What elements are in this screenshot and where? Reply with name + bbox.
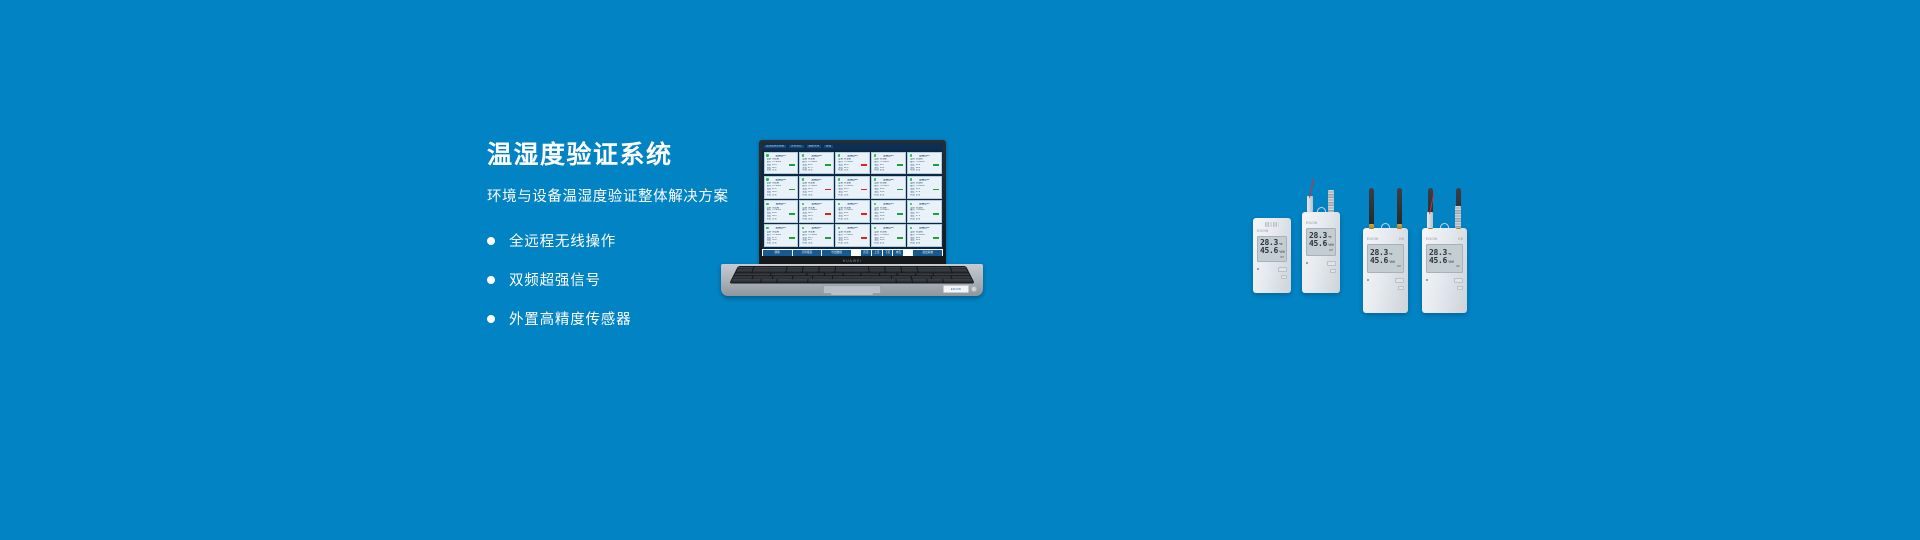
card-value: 正常 (844, 194, 867, 197)
keyboard-key[interactable] (950, 267, 967, 269)
keyboard-key[interactable] (819, 270, 835, 272)
monitoring-card[interactable]: 监测点17设备恒温箱编号TH-0001温度26.3湿度49.7状态正常 (799, 224, 833, 247)
hanger-loop-icon (1317, 207, 1326, 212)
keyboard-key[interactable] (932, 276, 952, 279)
device-led-icon (1306, 262, 1308, 264)
monitoring-card[interactable]: 监测点08设备恒温箱编号TH-0001温度30.6湿度53.7状态正常 (835, 176, 869, 199)
lcd-humidity-line: 45.6%RH (1260, 247, 1284, 255)
device-brand-row: ENOWH8 (1422, 237, 1467, 241)
keyboard-key[interactable] (771, 273, 789, 276)
device-wall-mount-logger[interactable]: ENOW28.3℃45.6%RHRH (1253, 218, 1291, 293)
keyboard-key[interactable] (934, 267, 951, 269)
lcd-sub-label: RH (1260, 256, 1284, 259)
monitoring-card[interactable]: 监测点14设备恒温箱编号TH-0001温度26.4湿度48.8状态正常 (871, 200, 905, 223)
status-indicator-icon (766, 154, 769, 157)
app-menu-item-2[interactable]: 实时监控 (789, 145, 803, 149)
device-button-primary[interactable] (1395, 278, 1404, 283)
laptop-badge-sticker: ENOW (943, 285, 969, 293)
card-key: 状态 (874, 169, 879, 172)
lcd-humidity-value: 45.6 (1370, 257, 1388, 265)
antenna-right-icon (1397, 188, 1402, 228)
device-led-icon (1426, 279, 1428, 281)
card-key: 状态 (874, 242, 879, 245)
device-brand-row: ENOW (1253, 229, 1291, 233)
monitoring-card[interactable]: 监测点07设备恒温箱编号TH-0001温度31.4湿度55.1状态正常 (799, 176, 833, 199)
keyboard-key[interactable] (836, 270, 852, 272)
monitoring-card[interactable]: 监测点09设备恒温箱编号TH-0001温度26.8湿度45.0状态正常 (871, 176, 905, 199)
monitoring-card[interactable]: 监测点02设备恒温箱编号TH-0001温度26.1湿度47.5状态正常 (799, 152, 833, 175)
lcd-humidity-value: 45.6 (1309, 240, 1327, 248)
monitoring-card-grid: 监测点01设备恒温箱编号TH-0001温度25.3湿度48.1状态正常监测点02… (762, 150, 943, 249)
card-title: 监测点18 (838, 227, 866, 230)
card-value: 正常 (808, 194, 831, 197)
device-lcd-display: 28.3℃45.6%RHRH (1306, 228, 1336, 256)
monitoring-card[interactable]: 监测点18设备恒温箱编号TH-0001温度31.1湿度55.8状态正常 (835, 224, 869, 247)
card-row-status: 状态正常 (802, 218, 830, 221)
lcd-humidity-line: 45.6%RH (1309, 240, 1333, 248)
card-key: 状态 (874, 218, 879, 221)
laptop-trackpad[interactable] (823, 285, 881, 294)
device-brand: ENOW (1426, 237, 1438, 241)
device-external-probe-logger[interactable]: ENOW28.3℃45.6%RHRH (1302, 212, 1340, 293)
card-key: 状态 (838, 218, 843, 221)
device-brand-row: ENOW (1302, 221, 1340, 225)
card-title: 监测点20 (910, 227, 938, 230)
card-key: 状态 (802, 169, 807, 172)
hanger-loop-icon (1440, 223, 1449, 228)
lcd-humidity-unit: %RH (1328, 244, 1334, 247)
card-value: 正常 (916, 218, 939, 221)
keyboard-key[interactable] (852, 276, 871, 279)
probe-sensor-head-icon (1328, 190, 1334, 212)
keyboard-key[interactable] (807, 273, 825, 276)
device-button-row (1363, 278, 1408, 283)
keyboard-key[interactable] (879, 273, 897, 276)
lcd-temperature-unit: ℃ (1279, 243, 1283, 246)
card-value: 正常 (916, 194, 939, 197)
card-title: 监测点04 (874, 155, 902, 158)
keyboard-key[interactable] (852, 267, 868, 269)
keyboard-key[interactable] (736, 270, 753, 272)
feature-label: 外置高精度传感器 (509, 308, 631, 329)
app-menubar[interactable]: 温湿度验证系统实时监控数据查询报警 (762, 143, 943, 150)
keyboard-key[interactable] (789, 273, 807, 276)
card-key: 状态 (838, 169, 843, 172)
card-key: 状态 (802, 218, 807, 221)
feature-label: 双频超强信号 (509, 269, 601, 290)
keyboard-key[interactable] (892, 276, 912, 279)
keyboard-key[interactable] (927, 280, 943, 283)
keyboard-key[interactable] (832, 276, 851, 279)
card-row-status: 状态正常 (874, 218, 902, 221)
device-model: H8 (1399, 237, 1404, 241)
keyboard-row (731, 280, 973, 283)
monitoring-card[interactable]: 监测点10设备恒温箱编号TH-0001温度25.1湿度47.9状态正常 (907, 176, 941, 199)
status-indicator-icon (766, 178, 769, 181)
device-led-icon (1367, 279, 1369, 281)
card-title: 监测点13 (838, 203, 866, 206)
keyboard-key[interactable] (918, 270, 935, 272)
lcd-temperature-unit: ℃ (1448, 253, 1452, 256)
device-dual-antenna-logger-a[interactable]: ENOWH828.3℃45.6%RHRH (1363, 228, 1408, 313)
card-key: 状态 (910, 194, 915, 197)
card-title: 监测点05 (910, 155, 938, 158)
card-title: 监测点10 (910, 179, 938, 182)
monitoring-card[interactable]: 监测点04设备恒温箱编号TH-0001温度24.7湿度46.2状态正常 (871, 152, 905, 175)
antenna-left-icon (1369, 188, 1374, 228)
app-menu-item-3[interactable]: 数据查询 (807, 145, 821, 149)
keyboard-key[interactable] (897, 280, 912, 283)
device-lcd-display: 28.3℃45.6%RHRH (1426, 244, 1463, 273)
card-row-status: 状态正常 (838, 194, 866, 197)
card-value: 正常 (844, 218, 867, 221)
keyboard-row (734, 273, 970, 276)
card-row-status: 状态正常 (767, 169, 795, 172)
keyboard-key[interactable] (825, 273, 842, 276)
keyboard-key[interactable] (885, 270, 901, 272)
probe-connector-icon (1307, 196, 1313, 212)
device-button-secondary[interactable] (1398, 286, 1404, 290)
monitoring-card[interactable]: 监测点13设备恒温箱编号TH-0001温度30.2湿度54.3状态正常 (835, 200, 869, 223)
card-value: 正常 (808, 218, 831, 221)
keyboard-key[interactable] (752, 270, 769, 272)
card-title: 监测点01 (767, 155, 795, 158)
monitoring-card[interactable]: 监测点01设备恒温箱编号TH-0001温度25.3湿度48.1状态正常 (764, 152, 798, 175)
lcd-humidity-line: 45.6%RH (1370, 257, 1401, 265)
card-value: 正常 (880, 169, 903, 172)
app-menu-item-4[interactable]: 报警 (824, 145, 833, 149)
card-title: 监测点06 (767, 179, 795, 182)
card-row-status: 状态正常 (874, 169, 902, 172)
keyboard-key[interactable] (915, 273, 933, 276)
card-value: 正常 (808, 169, 831, 172)
keyboard-key[interactable] (935, 270, 952, 272)
keyboard-key[interactable] (872, 276, 891, 279)
device-button-secondary[interactable] (1330, 269, 1336, 273)
device-button-row-secondary (1253, 275, 1291, 279)
card-value: 正常 (772, 169, 795, 172)
status-indicator-icon (910, 178, 913, 181)
keyboard-key[interactable] (731, 280, 761, 283)
monitoring-card[interactable]: 监测点12设备恒温箱编号TH-0001温度32.0湿度56.4状态正常 (799, 200, 833, 223)
laptop-keyboard[interactable] (729, 266, 975, 283)
keyboard-key[interactable] (802, 270, 818, 272)
keyboard-key[interactable] (770, 267, 786, 269)
device-button-row (1302, 261, 1340, 266)
card-title: 监测点19 (874, 227, 902, 230)
card-value: 正常 (916, 169, 939, 172)
card-title: 监测点11 (767, 203, 795, 206)
monitoring-card[interactable]: 监测点05设备恒温箱编号TH-0001温度25.9湿度49.3状态正常 (907, 152, 941, 175)
keyboard-key[interactable] (754, 267, 771, 269)
card-title: 监测点15 (910, 203, 938, 206)
card-title: 监测点16 (767, 227, 795, 230)
device-button-row (1422, 278, 1467, 283)
card-key: 状态 (767, 218, 772, 221)
device-button-row-secondary (1422, 286, 1467, 290)
device-led-icon (1257, 268, 1259, 270)
keyboard-key[interactable] (943, 280, 973, 283)
card-value: 正常 (772, 242, 795, 245)
card-value: 正常 (880, 194, 903, 197)
fingerprint-sensor-icon[interactable] (971, 286, 977, 292)
device-button-secondary[interactable] (1281, 275, 1287, 279)
keyboard-key[interactable] (951, 276, 971, 279)
lcd-humidity-unit: %RH (1279, 251, 1285, 254)
status-indicator-icon (910, 154, 913, 157)
card-key: 状态 (838, 194, 843, 197)
product-banner: 温湿度验证系统 环境与设备温湿度验证整体解决方案 全远程无线操作双频超强信号外置… (0, 0, 1920, 540)
bullet-dot-icon (487, 276, 495, 284)
feature-item-3: 外置高精度传感器 (487, 308, 907, 329)
device-button-primary[interactable] (1278, 267, 1287, 272)
card-title: 监测点14 (874, 203, 902, 206)
device-button-row-secondary (1363, 286, 1408, 290)
card-title: 监测点02 (802, 155, 830, 158)
card-title: 监测点12 (802, 203, 830, 206)
antenna-left-base-icon (1369, 224, 1374, 229)
status-indicator-icon (766, 203, 769, 206)
bullet-dot-icon (487, 237, 495, 245)
card-key: 状态 (910, 218, 915, 221)
app-toolbar[interactable]: 刷新打印报表导出数据首页上页下页末页退出系统 (762, 249, 943, 256)
card-row-status: 状态正常 (767, 194, 795, 197)
keyboard-key[interactable] (772, 276, 792, 279)
keyboard-key[interactable] (803, 267, 819, 269)
card-key: 状态 (802, 242, 807, 245)
keyboard-key[interactable] (843, 273, 860, 276)
keyboard-key[interactable] (836, 267, 852, 269)
lcd-humidity-line: 45.6%RH (1429, 257, 1460, 265)
card-row-status: 状态正常 (910, 242, 938, 245)
keyboard-row (736, 270, 968, 272)
card-row-status: 状态正常 (910, 169, 938, 172)
card-row-status: 状态正常 (838, 218, 866, 221)
lcd-humidity-value: 45.6 (1429, 257, 1447, 265)
laptop-lid: 温湿度验证系统实时监控数据查询报警 监测点01设备恒温箱编号TH-0001温度2… (759, 140, 946, 265)
card-row-status: 状态正常 (802, 169, 830, 172)
keyboard-key[interactable] (861, 273, 878, 276)
card-row-status: 状态正常 (802, 242, 830, 245)
monitoring-card[interactable]: 监测点16设备恒温箱编号TH-0001温度27.0湿度45.9状态正常 (764, 224, 798, 247)
card-key: 状态 (910, 169, 915, 172)
keyboard-key[interactable] (734, 273, 752, 276)
card-title: 监测点07 (802, 179, 830, 182)
keyboard-key[interactable] (761, 280, 777, 283)
device-lcd-display: 28.3℃45.6%RHRH (1367, 244, 1404, 273)
keyboard-key[interactable] (732, 276, 752, 279)
device-brand: ENOW (1306, 221, 1318, 225)
card-title: 监测点03 (838, 155, 866, 158)
card-row-status: 状态正常 (874, 194, 902, 197)
card-value: 正常 (880, 218, 903, 221)
antenna-right-base-icon (1397, 224, 1402, 229)
monitoring-card[interactable]: 监测点03设备恒温箱编号TH-0001温度29.8湿度52.0状态正常 (835, 152, 869, 175)
card-row-status: 状态正常 (802, 194, 830, 197)
device-lcd-display: 28.3℃45.6%RHRH (1257, 236, 1287, 262)
keyboard-row (737, 267, 966, 269)
feature-label: 全远程无线操作 (509, 230, 616, 251)
card-value: 正常 (916, 242, 939, 245)
keyboard-key[interactable] (869, 270, 885, 272)
card-row-status: 状态正常 (910, 194, 938, 197)
card-key: 状态 (874, 194, 879, 197)
card-key: 状态 (767, 194, 772, 197)
keyboard-key[interactable] (752, 276, 772, 279)
lcd-humidity-unit: %RH (1389, 261, 1395, 264)
laptop-mockup: 温湿度验证系统实时监控数据查询报警 监测点01设备恒温箱编号TH-0001温度2… (721, 140, 983, 300)
card-key: 状态 (767, 242, 772, 245)
device-button-row (1253, 267, 1291, 272)
card-title: 监测点09 (874, 179, 902, 182)
device-button-primary[interactable] (1327, 261, 1336, 266)
card-row-status: 状态正常 (874, 242, 902, 245)
keyboard-key[interactable] (787, 267, 803, 269)
keyboard-key[interactable] (897, 273, 915, 276)
card-row-status: 状态正常 (767, 218, 795, 221)
card-value: 正常 (808, 242, 831, 245)
keyboard-key[interactable] (808, 280, 896, 283)
keyboard-key[interactable] (917, 267, 933, 269)
keyboard-key[interactable] (812, 276, 831, 279)
card-value: 正常 (772, 194, 795, 197)
card-value: 正常 (772, 218, 795, 221)
device-brand: ENOW (1367, 237, 1379, 241)
vent-grille-icon (1265, 222, 1279, 227)
monitoring-card[interactable]: 监测点06设备恒温箱编号TH-0001温度27.2湿度44.8状态正常 (764, 176, 798, 199)
lcd-sub-label: RH (1370, 265, 1401, 268)
device-model: H8 (1458, 237, 1463, 241)
keyboard-key[interactable] (951, 273, 969, 276)
keyboard-key[interactable] (752, 273, 770, 276)
keyboard-key[interactable] (885, 267, 901, 269)
keyboard-key[interactable] (769, 270, 786, 272)
card-key: 状态 (802, 194, 807, 197)
lcd-sub-label: RH (1309, 249, 1333, 252)
monitoring-card[interactable]: 监测点20设备恒温箱编号TH-0001温度24.4湿度48.4状态正常 (907, 224, 941, 247)
laptop-screen: 温湿度验证系统实时监控数据查询报警 监测点01设备恒温箱编号TH-0001温度2… (762, 143, 943, 256)
keyboard-key[interactable] (933, 273, 951, 276)
bullet-dot-icon (487, 315, 495, 323)
lcd-temperature-unit: ℃ (1389, 253, 1393, 256)
lcd-temperature-unit: ℃ (1328, 236, 1332, 239)
keyboard-key[interactable] (820, 267, 836, 269)
card-value: 正常 (880, 242, 903, 245)
card-key: 状态 (838, 242, 843, 245)
card-value: 正常 (844, 169, 867, 172)
card-key: 状态 (767, 169, 772, 172)
monitoring-card[interactable]: 监测点19设备恒温箱编号TH-0001温度25.5湿度46.9状态正常 (871, 224, 905, 247)
card-row-status: 状态正常 (767, 242, 795, 245)
lcd-humidity-unit: %RH (1448, 261, 1454, 264)
device-button-primary[interactable] (1454, 278, 1463, 283)
hanger-loop-icon (1381, 223, 1390, 228)
keyboard-key[interactable] (852, 270, 868, 272)
card-row-status: 状态正常 (838, 169, 866, 172)
device-button-row-secondary (1302, 269, 1340, 273)
card-row-status: 状态正常 (838, 242, 866, 245)
probe-connector-icon (1427, 212, 1433, 228)
lcd-humidity-value: 45.6 (1260, 247, 1278, 255)
keyboard-key[interactable] (951, 270, 968, 272)
keyboard-key[interactable] (912, 280, 927, 283)
card-key: 状态 (910, 242, 915, 245)
keyboard-key[interactable] (912, 276, 932, 279)
keyboard-key[interactable] (792, 276, 812, 279)
card-title: 监测点17 (802, 227, 830, 230)
device-brand: ENOW (1257, 229, 1269, 233)
monitoring-card[interactable]: 监测点11设备恒温箱编号TH-0001温度24.9湿度46.6状态正常 (764, 200, 798, 223)
laptop-brand-logo: HUAWEI (843, 259, 862, 263)
lcd-sub-label: RH (1429, 265, 1460, 268)
keyboard-key[interactable] (869, 267, 885, 269)
card-value: 正常 (844, 242, 867, 245)
keyboard-key[interactable] (901, 267, 917, 269)
card-title: 监测点08 (838, 179, 866, 182)
status-indicator-icon (874, 154, 877, 157)
keyboard-key[interactable] (786, 270, 802, 272)
keyboard-key[interactable] (902, 270, 918, 272)
device-brand-row: ENOWH8 (1363, 237, 1408, 241)
device-button-secondary[interactable] (1457, 286, 1463, 290)
keyboard-key[interactable] (777, 280, 792, 283)
keyboard-row (732, 276, 971, 279)
monitoring-card[interactable]: 监测点15设备恒温箱编号TH-0001温度25.7湿度47.1状态正常 (907, 200, 941, 223)
app-menu-item-1[interactable]: 温湿度验证系统 (764, 145, 786, 149)
probe-sensor-head-icon (1455, 206, 1461, 228)
keyboard-key[interactable] (792, 280, 807, 283)
card-row-status: 状态正常 (910, 218, 938, 221)
device-dual-antenna-logger-b[interactable]: ENOWH828.3℃45.6%RHRH (1422, 228, 1467, 313)
keyboard-key[interactable] (737, 267, 754, 269)
laptop-base: ENOW (721, 264, 983, 296)
